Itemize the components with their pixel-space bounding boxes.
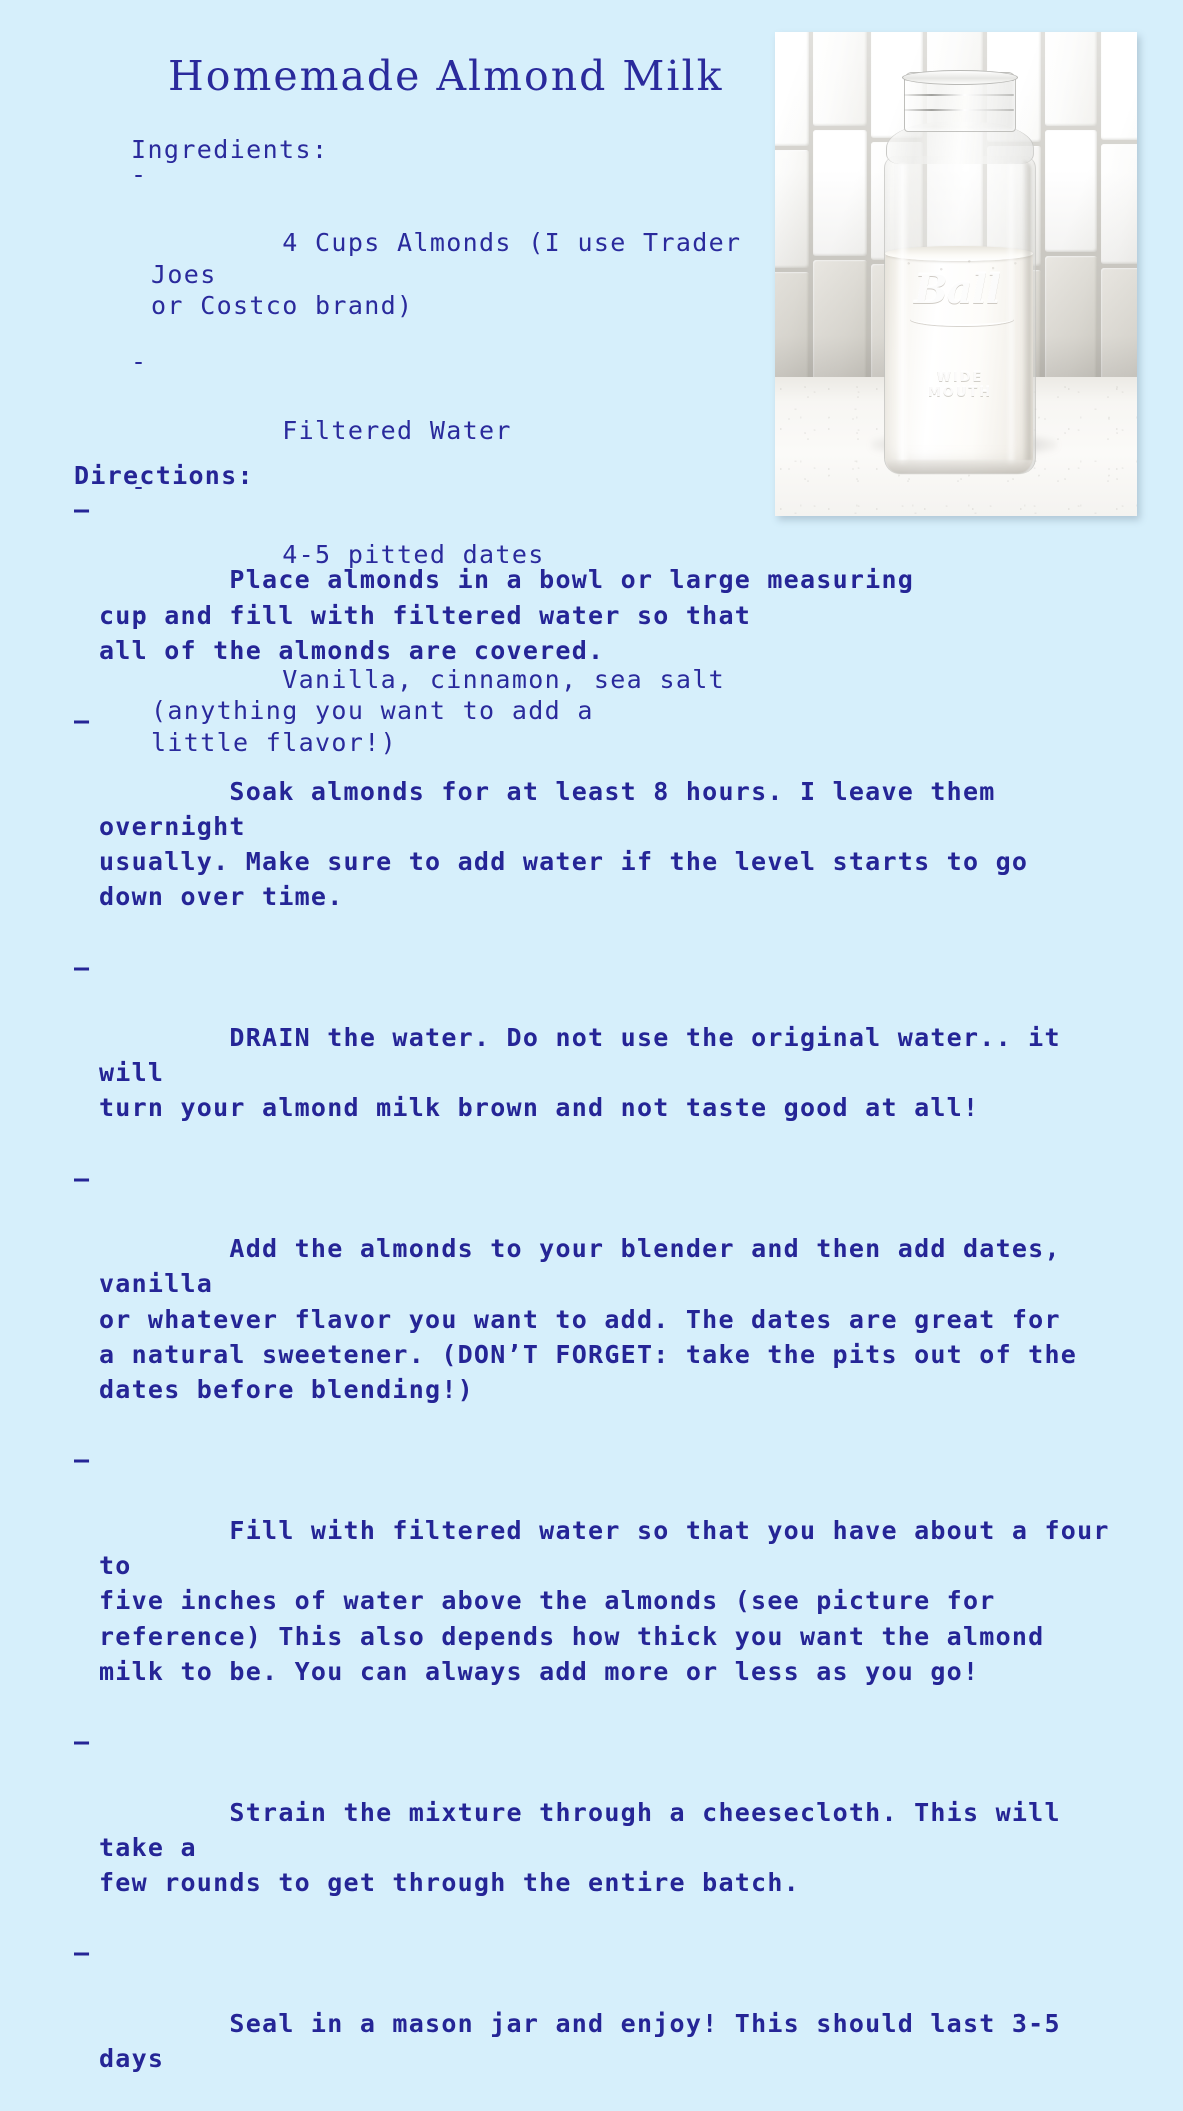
- directions-section: Directions: – Place almonds in a bowl or…: [74, 459, 1134, 2111]
- direction-step: – Strain the mixture through a cheeseclo…: [74, 1724, 1134, 1935]
- recipe-page: Homemade Almond Milk Ingredients: - 4 Cu…: [0, 0, 1183, 1200]
- direction-step: – Soak almonds for at least 8 hours. I l…: [74, 703, 1134, 949]
- direction-step: – Add the almonds to your blender and th…: [74, 1161, 1134, 1443]
- glass-highlight-left: [896, 164, 909, 464]
- bullet-dash-icon: –: [74, 950, 90, 985]
- direction-text: Strain the mixture through a cheesecloth…: [99, 1798, 1077, 1897]
- bullet-dash-icon: -: [131, 346, 147, 377]
- almond-milk-jar-photo: Ball WIDE MOUTH: [775, 32, 1137, 516]
- mason-jar: Ball WIDE MOUTH: [880, 72, 1038, 458]
- direction-text: Add the almonds to your blender and then…: [99, 1234, 1077, 1404]
- ingredients-heading: Ingredients:: [131, 134, 751, 165]
- jar-base: [886, 460, 1032, 474]
- photo-inner: Ball WIDE MOUTH: [775, 32, 1137, 516]
- direction-text: DRAIN the water. Do not use the original…: [99, 1023, 1077, 1122]
- direction-step: – DRAIN the water. Do not use the origin…: [74, 950, 1134, 1161]
- jar-rim: [902, 70, 1018, 85]
- bullet-dash-icon: –: [74, 703, 90, 738]
- ball-logo-underline: [910, 312, 1014, 326]
- wide-mouth-embossing: WIDE MOUTH: [904, 370, 1016, 400]
- direction-step: – Seal in a mason jar and enjoy! This sh…: [74, 1935, 1134, 2111]
- jar-thread: [904, 94, 1014, 96]
- ingredient-text: 4 Cups Almonds (I use Trader Joes or Cos…: [151, 228, 758, 319]
- glass-edge-shadow: [1022, 160, 1031, 466]
- direction-text: Place almonds in a bowl or large measuri…: [99, 565, 914, 664]
- ingredient-item: - 4 Cups Almonds (I use Trader Joes or C…: [131, 165, 751, 352]
- direction-text: Soak almonds for at least 8 hours. I lea…: [99, 777, 1028, 912]
- direction-step: – Place almonds in a bowl or large measu…: [74, 492, 1134, 703]
- bullet-dash-icon: –: [74, 1161, 90, 1196]
- directions-list: – Place almonds in a bowl or large measu…: [74, 492, 1134, 2111]
- bullet-dash-icon: -: [131, 159, 147, 190]
- direction-text: Fill with filtered water so that you hav…: [99, 1516, 1126, 1686]
- direction-text: Seal in a mason jar and enjoy! This shou…: [99, 2009, 1077, 2073]
- page-title: Homemade Almond Milk: [168, 52, 723, 100]
- direction-step: – Fill with filtered water so that you h…: [74, 1442, 1134, 1724]
- bullet-dash-icon: –: [74, 1935, 90, 1970]
- jar-thread: [904, 109, 1014, 111]
- bullet-dash-icon: –: [74, 1724, 90, 1759]
- ball-brand-logo: Ball: [914, 268, 1010, 312]
- ingredient-text: Filtered Water: [282, 416, 512, 445]
- bullet-dash-icon: –: [74, 492, 90, 527]
- bullet-dash-icon: –: [74, 1442, 90, 1477]
